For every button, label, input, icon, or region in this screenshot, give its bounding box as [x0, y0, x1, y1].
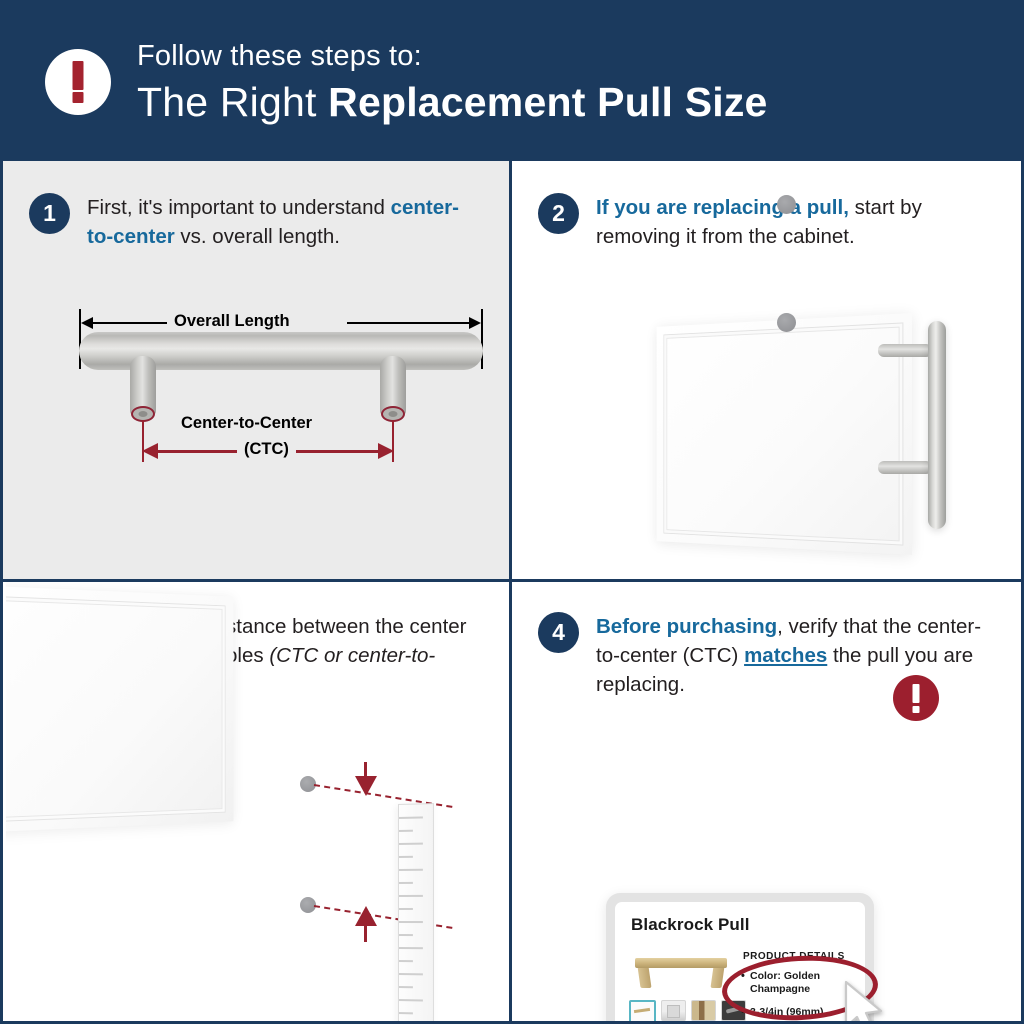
product-pull-leg-left: [637, 966, 651, 988]
thumbnail-1[interactable]: [661, 1000, 686, 1021]
overall-arrow-right: [469, 317, 481, 329]
exclamation-icon-panel4: [893, 675, 939, 721]
ctc-dim-line-right: [282, 450, 378, 453]
ctc-label-line2: (CTC): [237, 440, 296, 459]
matches-link[interactable]: matches: [744, 644, 827, 667]
step-1-text: First, it's important to understand cent…: [87, 193, 479, 251]
step-4-text: Before purchasing, verify that the cente…: [596, 612, 998, 699]
exclamation-bar: [73, 61, 84, 90]
overall-length-label: Overall Length: [167, 312, 297, 331]
page-title: The Right Replacement Pull Size: [137, 82, 768, 123]
title-bold: Replacement Pull Size: [328, 79, 767, 125]
step-2-accent: If you are replacing a pull,: [596, 196, 849, 219]
infographic-page: Follow these steps to: The Right Replace…: [0, 0, 1024, 1024]
bar-pull-2: [928, 321, 946, 529]
header-text: Follow these steps to: The Right Replace…: [137, 42, 768, 123]
step-2-number: 2: [538, 193, 579, 234]
alert-bar-4: [913, 684, 920, 703]
step-1-header: 1 First, it's important to understand ce…: [29, 193, 479, 251]
alert-dot-4: [913, 706, 920, 713]
step-panel-1: 1 First, it's important to understand ce…: [3, 161, 512, 582]
thumbnail-0[interactable]: [629, 1000, 656, 1021]
step-panel-2: 2 If you are replacing a pull, start by …: [512, 161, 1021, 582]
step-3-text: Measure the distance between the center …: [87, 612, 469, 699]
ctc-label-line1: Center-to-Center: [174, 414, 319, 433]
pull-leg-top-2: [878, 344, 932, 357]
header-banner: Follow these steps to: The Right Replace…: [3, 3, 1024, 161]
thumbnail-2[interactable]: [691, 1000, 716, 1021]
step-3-number: 3: [29, 612, 70, 653]
exclamation-dot: [73, 92, 84, 103]
step-4-number: 4: [538, 612, 579, 653]
step-panel-3: 3 Measure the distance between the cente…: [3, 582, 512, 1021]
mouse-pointer-icon: [842, 980, 888, 1021]
bar-pull-diagram: Overall Length Center-to-Center (CTC): [29, 296, 489, 486]
ctc-arrow-right: [378, 443, 394, 459]
step-2-header: 2 If you are replacing a pull, start by …: [538, 193, 958, 251]
overall-extension-right: [481, 309, 483, 369]
product-title: Blackrock Pull: [631, 915, 750, 935]
screw-hole-bottom-2: [777, 313, 796, 332]
step-panel-4: 4 Before purchasing, verify that the cen…: [512, 582, 1021, 1021]
ctc-arrow-left: [142, 443, 158, 459]
title-light: The Right: [137, 79, 328, 125]
screw-hole-top-2: [777, 195, 796, 214]
steps-grid: 1 First, it's important to understand ce…: [3, 161, 1021, 1021]
door-inset-panel-2: [663, 322, 903, 545]
step-3-accent: Measure: [87, 615, 170, 638]
pull-leg-bottom-2: [878, 461, 932, 474]
step-1-number: 1: [29, 193, 70, 234]
step-4-accent: Before purchasing: [596, 615, 777, 638]
header-kicker: Follow these steps to:: [137, 42, 768, 71]
product-pull-bar: [635, 958, 727, 968]
step-1-text-b: vs. overall length.: [175, 225, 340, 248]
overall-arrow-left: [81, 317, 93, 329]
product-image: [633, 948, 729, 992]
step-3-header: 3 Measure the distance between the cente…: [29, 612, 469, 699]
cabinet-door-2: [657, 313, 912, 555]
step-1-text-a: First, it's important to understand: [87, 196, 391, 219]
exclamation-icon: [45, 49, 111, 115]
overall-dim-line-right: [347, 322, 477, 324]
